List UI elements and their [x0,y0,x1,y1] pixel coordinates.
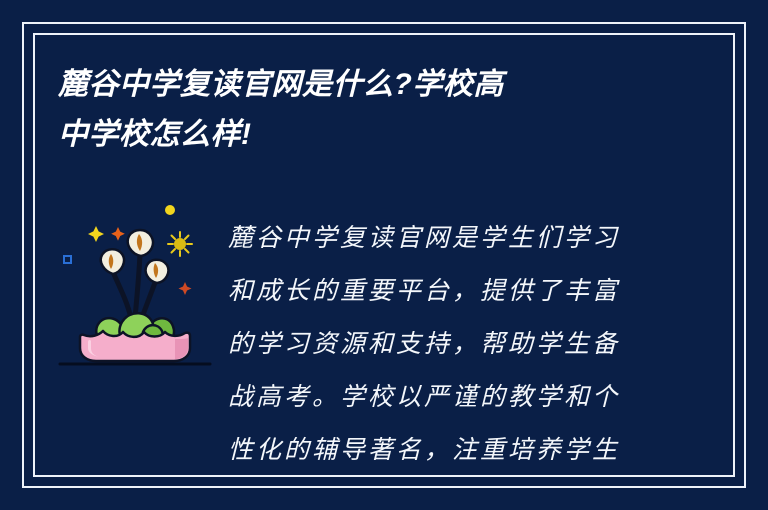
sparkle-yellow-starburst-icon [168,232,192,256]
body-line: 战高考。学校以严谨的教学和个 [228,371,658,424]
sparkle-yellow-dot-icon [165,205,175,215]
body-line: 性化的辅导著名，注重培养学生 [228,424,658,477]
page-title: 麓谷中学复读官网是什么?学校高 中学校怎么样! [58,60,658,160]
body-paragraph: 麓谷中学复读官网是学生们学习 和成长的重要平台，提供了丰富 的学习资源和支持，帮… [228,212,658,477]
sparkle-yellow-four-point-icon [88,226,104,242]
body-line: 和成长的重要平台，提供了丰富 [228,265,658,318]
sparkle-blue-square-icon [64,256,71,263]
calla-flower-left [101,249,124,274]
calla-flower-center [128,230,153,256]
calla-flower-right [146,260,169,283]
sparkle-red-small-icon [179,282,192,295]
body-line: 麓谷中学复读官网是学生们学习 [228,212,658,265]
poster-canvas: 麓谷中学复读官网是什么?学校高 中学校怎么样! [0,0,768,510]
potted-plant-illustration [55,196,215,366]
body-line: 的学习资源和支持，帮助学生备 [228,318,658,371]
sparkle-orange-four-point-icon [111,227,125,241]
